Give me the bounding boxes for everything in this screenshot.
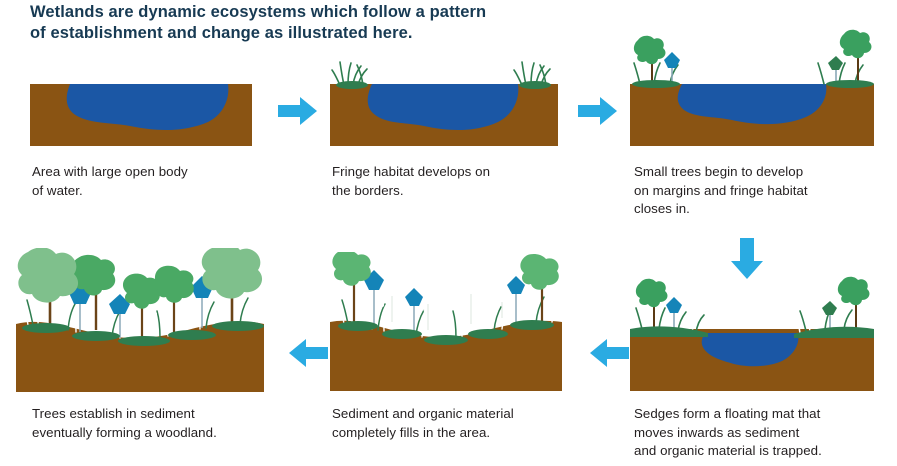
stage-5-caption: Sediment and organic material completely… (332, 405, 582, 442)
stage-1-illustration (30, 84, 252, 146)
arrow-right-icon (578, 96, 618, 131)
stage-4-illustration (630, 275, 874, 391)
stage-6-caption: Trees establish in sediment eventually f… (32, 405, 282, 442)
wetland-succession-diagram: Wetlands are dynamic ecosystems which fo… (0, 0, 897, 466)
title-line-2: of establishment and change as illustrat… (30, 23, 590, 44)
title-line-1: Wetlands are dynamic ecosystems which fo… (30, 2, 590, 23)
stage-5-illustration (330, 252, 562, 391)
stage-6-illustration (16, 248, 264, 392)
page-title: Wetlands are dynamic ecosystems which fo… (30, 2, 590, 44)
stage-1-caption: Area with large open body of water. (32, 163, 262, 200)
stage-3-caption: Small trees begin to develop on margins … (634, 163, 884, 219)
stage-3-illustration (630, 22, 874, 146)
arrow-left-icon (589, 338, 629, 373)
arrow-left-icon (288, 338, 328, 373)
arrow-right-icon (278, 96, 318, 131)
stage-4-caption: Sedges form a floating mat that moves in… (634, 405, 890, 461)
stage-2-caption: Fringe habitat develops on the borders. (332, 163, 562, 200)
stage-2-illustration (330, 60, 558, 146)
